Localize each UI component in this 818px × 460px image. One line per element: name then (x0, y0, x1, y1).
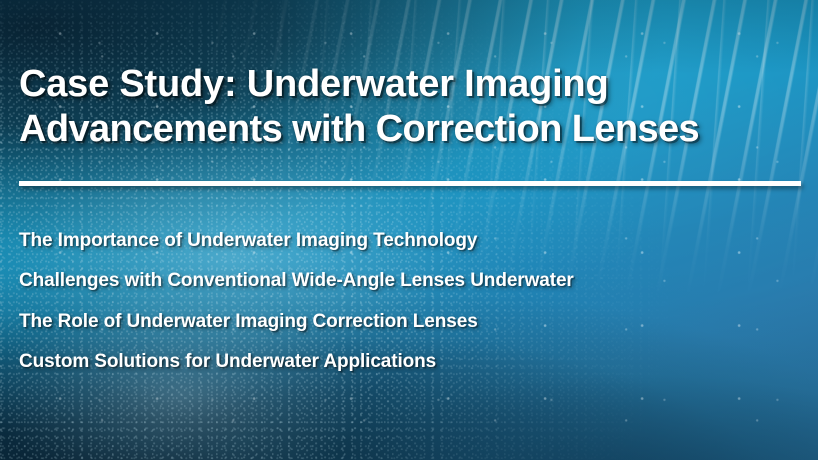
toc-item[interactable]: Challenges with Conventional Wide-Angle … (19, 261, 811, 301)
toc-item[interactable]: The Role of Underwater Imaging Correctio… (19, 302, 811, 342)
title-divider (19, 181, 801, 186)
banner-content: Case Study: Underwater Imaging Advanceme… (0, 0, 818, 460)
toc-item[interactable]: The Importance of Underwater Imaging Tec… (19, 221, 811, 261)
toc-item[interactable]: Custom Solutions for Underwater Applicat… (19, 342, 811, 382)
underwater-case-study-banner: Case Study: Underwater Imaging Advanceme… (0, 0, 818, 460)
table-of-contents: The Importance of Underwater Imaging Tec… (19, 221, 811, 382)
page-title-line-1: Case Study: Underwater Imaging (19, 62, 811, 107)
page-title-line-2: Advancements with Correction Lenses (19, 107, 811, 152)
page-title: Case Study: Underwater Imaging Advanceme… (19, 62, 811, 152)
